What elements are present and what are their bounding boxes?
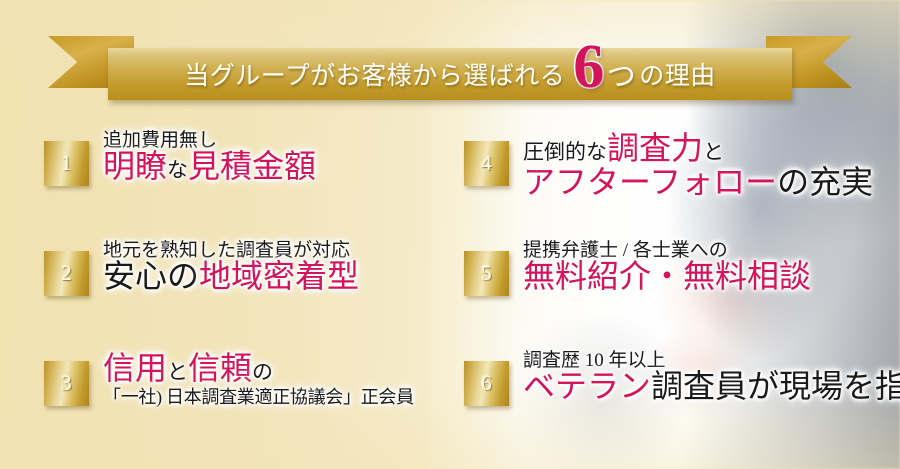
reason-text-line: 圧倒的な調査力と xyxy=(523,131,873,167)
reason-highlight-text: 地域密着型 xyxy=(199,258,359,294)
reason-plain-text: と xyxy=(167,360,188,384)
reason-number-badge: 3 xyxy=(44,361,89,406)
reason-item-1: 1追加費用無し明瞭な見積金額 xyxy=(44,128,474,238)
reason-number-badge: 2 xyxy=(44,251,89,296)
reason-number-badge: 4 xyxy=(464,141,509,186)
reason-text-line: 安心の地域密着型 xyxy=(103,259,359,295)
reason-item-3: 3信用と信頼の「一社) 日本調査業適正協議会」正会員 xyxy=(44,348,474,458)
reason-text-line: アフターフォローの充実 xyxy=(523,165,873,201)
headline-counter: つ xyxy=(607,53,637,95)
reason-number-badge: 5 xyxy=(464,251,509,296)
banner-headline: 当グループがお客様から選ばれる6つの理由 xyxy=(108,48,792,100)
reason-plain-text: と xyxy=(703,140,724,164)
reason-plain-text: 調査員が現場を指揮 xyxy=(651,368,900,404)
reason-highlight-text: 信頼 xyxy=(188,350,252,386)
reason-text-line: 明瞭な見積金額 xyxy=(103,149,316,185)
reason-highlight-text: 見積金額 xyxy=(188,148,316,184)
reason-item-2: 2地元を熟知した調査員が対応安心の地域密着型 xyxy=(44,238,474,348)
reason-plain-text: 圧倒的な xyxy=(523,140,607,164)
reasons-column-left: 1追加費用無し明瞭な見積金額2地元を熟知した調査員が対応安心の地域密着型3信用と… xyxy=(44,128,474,458)
reason-highlight-text: 明瞭 xyxy=(103,148,167,184)
reason-text-block: 提携弁護士 / 各士業への無料紹介・無料相談 xyxy=(523,238,811,295)
reason-highlight-text: アフターフォロー xyxy=(523,164,777,200)
reason-text-block: 追加費用無し明瞭な見積金額 xyxy=(103,128,316,185)
headline-prefix: 当グループがお客様から選ばれる xyxy=(184,56,565,92)
reason-highlight-text: 調査力 xyxy=(607,130,703,166)
reason-text-line: ベテラン調査員が現場を指揮 xyxy=(523,369,900,405)
headline-suffix: の理由 xyxy=(639,56,716,92)
reasons-column-right: 4圧倒的な調査力とアフターフォローの充実5提携弁護士 / 各士業への無料紹介・無… xyxy=(464,128,894,458)
reason-highlight-text: 信用 xyxy=(103,350,167,386)
reason-text-block: 圧倒的な調査力とアフターフォローの充実 xyxy=(523,128,873,201)
reason-text-line: 無料紹介・無料相談 xyxy=(523,259,811,295)
reason-subtext-line: 「一社) 日本調査業適正協議会」正会員 xyxy=(103,387,414,407)
reason-plain-text: な xyxy=(167,158,188,182)
reason-text-block: 地元を熟知した調査員が対応安心の地域密着型 xyxy=(103,238,359,295)
reason-plain-text: の xyxy=(252,360,273,384)
reason-text-block: 信用と信頼の「一社) 日本調査業適正協議会」正会員 xyxy=(103,348,414,407)
reason-plain-text: の充実 xyxy=(777,164,873,200)
reason-highlight-text: 無料紹介・無料相談 xyxy=(523,258,811,294)
reason-item-5: 5提携弁護士 / 各士業への無料紹介・無料相談 xyxy=(464,238,894,348)
header-ribbon: 当グループがお客様から選ばれる6つの理由 xyxy=(0,36,900,100)
reason-item-6: 6調査歴 10 年以上ベテラン調査員が現場を指揮 xyxy=(464,348,894,458)
reason-number-badge: 1 xyxy=(44,141,89,186)
reason-item-4: 4圧倒的な調査力とアフターフォローの充実 xyxy=(464,128,894,238)
reason-plain-text: 安心の xyxy=(103,258,199,294)
reason-highlight-text: ベテラン xyxy=(523,368,651,404)
headline-number: 6 xyxy=(573,43,605,93)
promo-banner: 当グループがお客様から選ばれる6つの理由 1追加費用無し明瞭な見積金額2地元を熟… xyxy=(0,0,900,469)
reason-number-badge: 6 xyxy=(464,361,509,406)
reason-text-line: 信用と信頼の xyxy=(103,351,414,387)
reason-text-block: 調査歴 10 年以上ベテラン調査員が現場を指揮 xyxy=(523,348,900,405)
